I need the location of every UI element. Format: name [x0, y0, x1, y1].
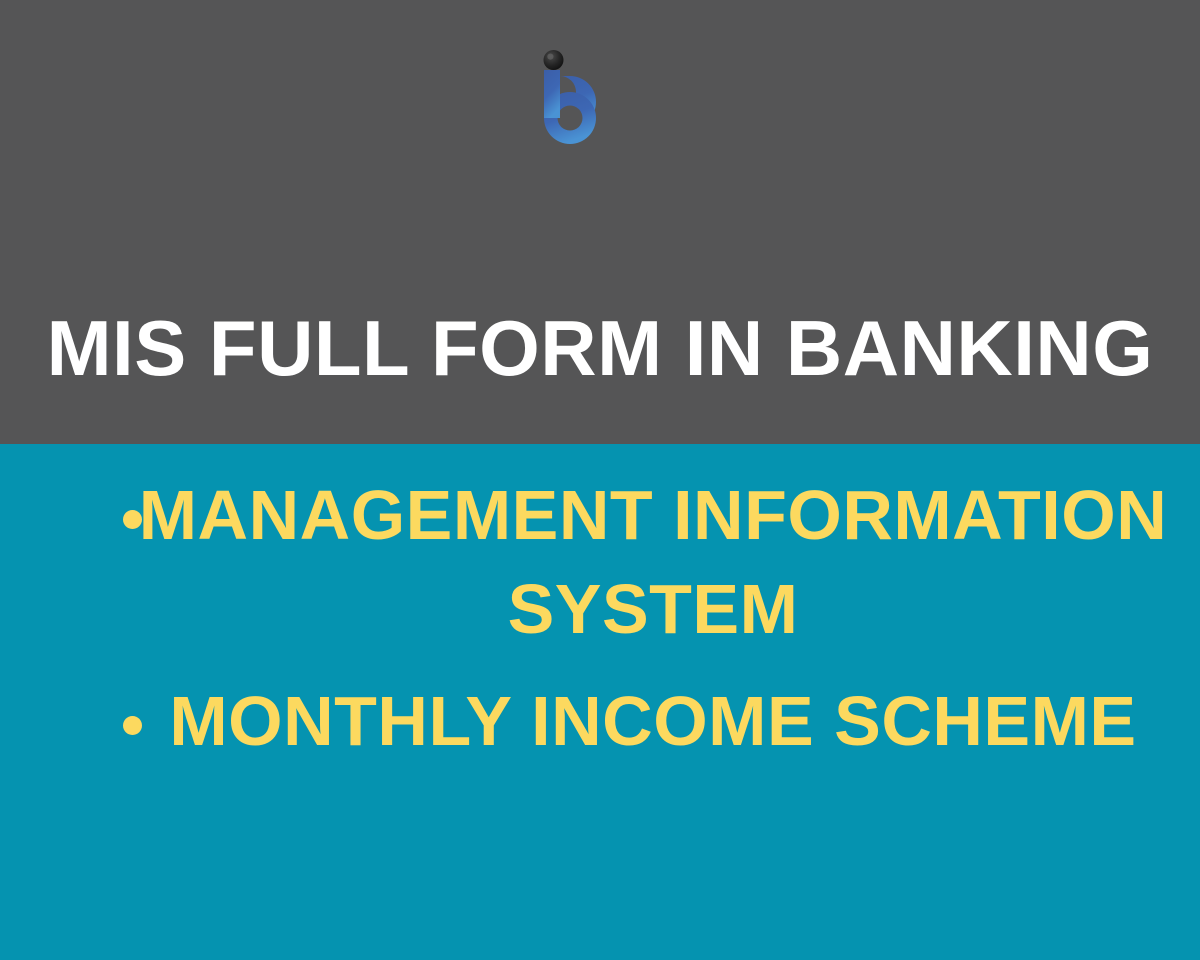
- bullet-dot-icon: [123, 716, 142, 735]
- list-item: MONTHLY INCOME SCHEME: [0, 674, 1200, 768]
- logo-dot-icon: [544, 50, 564, 70]
- b-letter-logo-icon: [536, 44, 606, 152]
- brand-logo: [536, 44, 606, 152]
- content-panel: MANAGEMENT INFORMATION SYSTEM MONTHLY IN…: [0, 444, 1200, 960]
- list-item-label: MONTHLY INCOME SCHEME: [118, 674, 1188, 768]
- header-panel: MIS FULL FORM IN BANKING: [0, 0, 1200, 444]
- definition-list: MANAGEMENT INFORMATION SYSTEM MONTHLY IN…: [0, 444, 1200, 768]
- list-item: MANAGEMENT INFORMATION SYSTEM: [0, 468, 1200, 656]
- list-item-label: MANAGEMENT INFORMATION SYSTEM: [118, 468, 1188, 656]
- poster-canvas: MIS FULL FORM IN BANKING MANAGEMENT INFO…: [0, 0, 1200, 960]
- page-title: MIS FULL FORM IN BANKING: [0, 300, 1200, 396]
- bullet-dot-icon: [123, 510, 142, 529]
